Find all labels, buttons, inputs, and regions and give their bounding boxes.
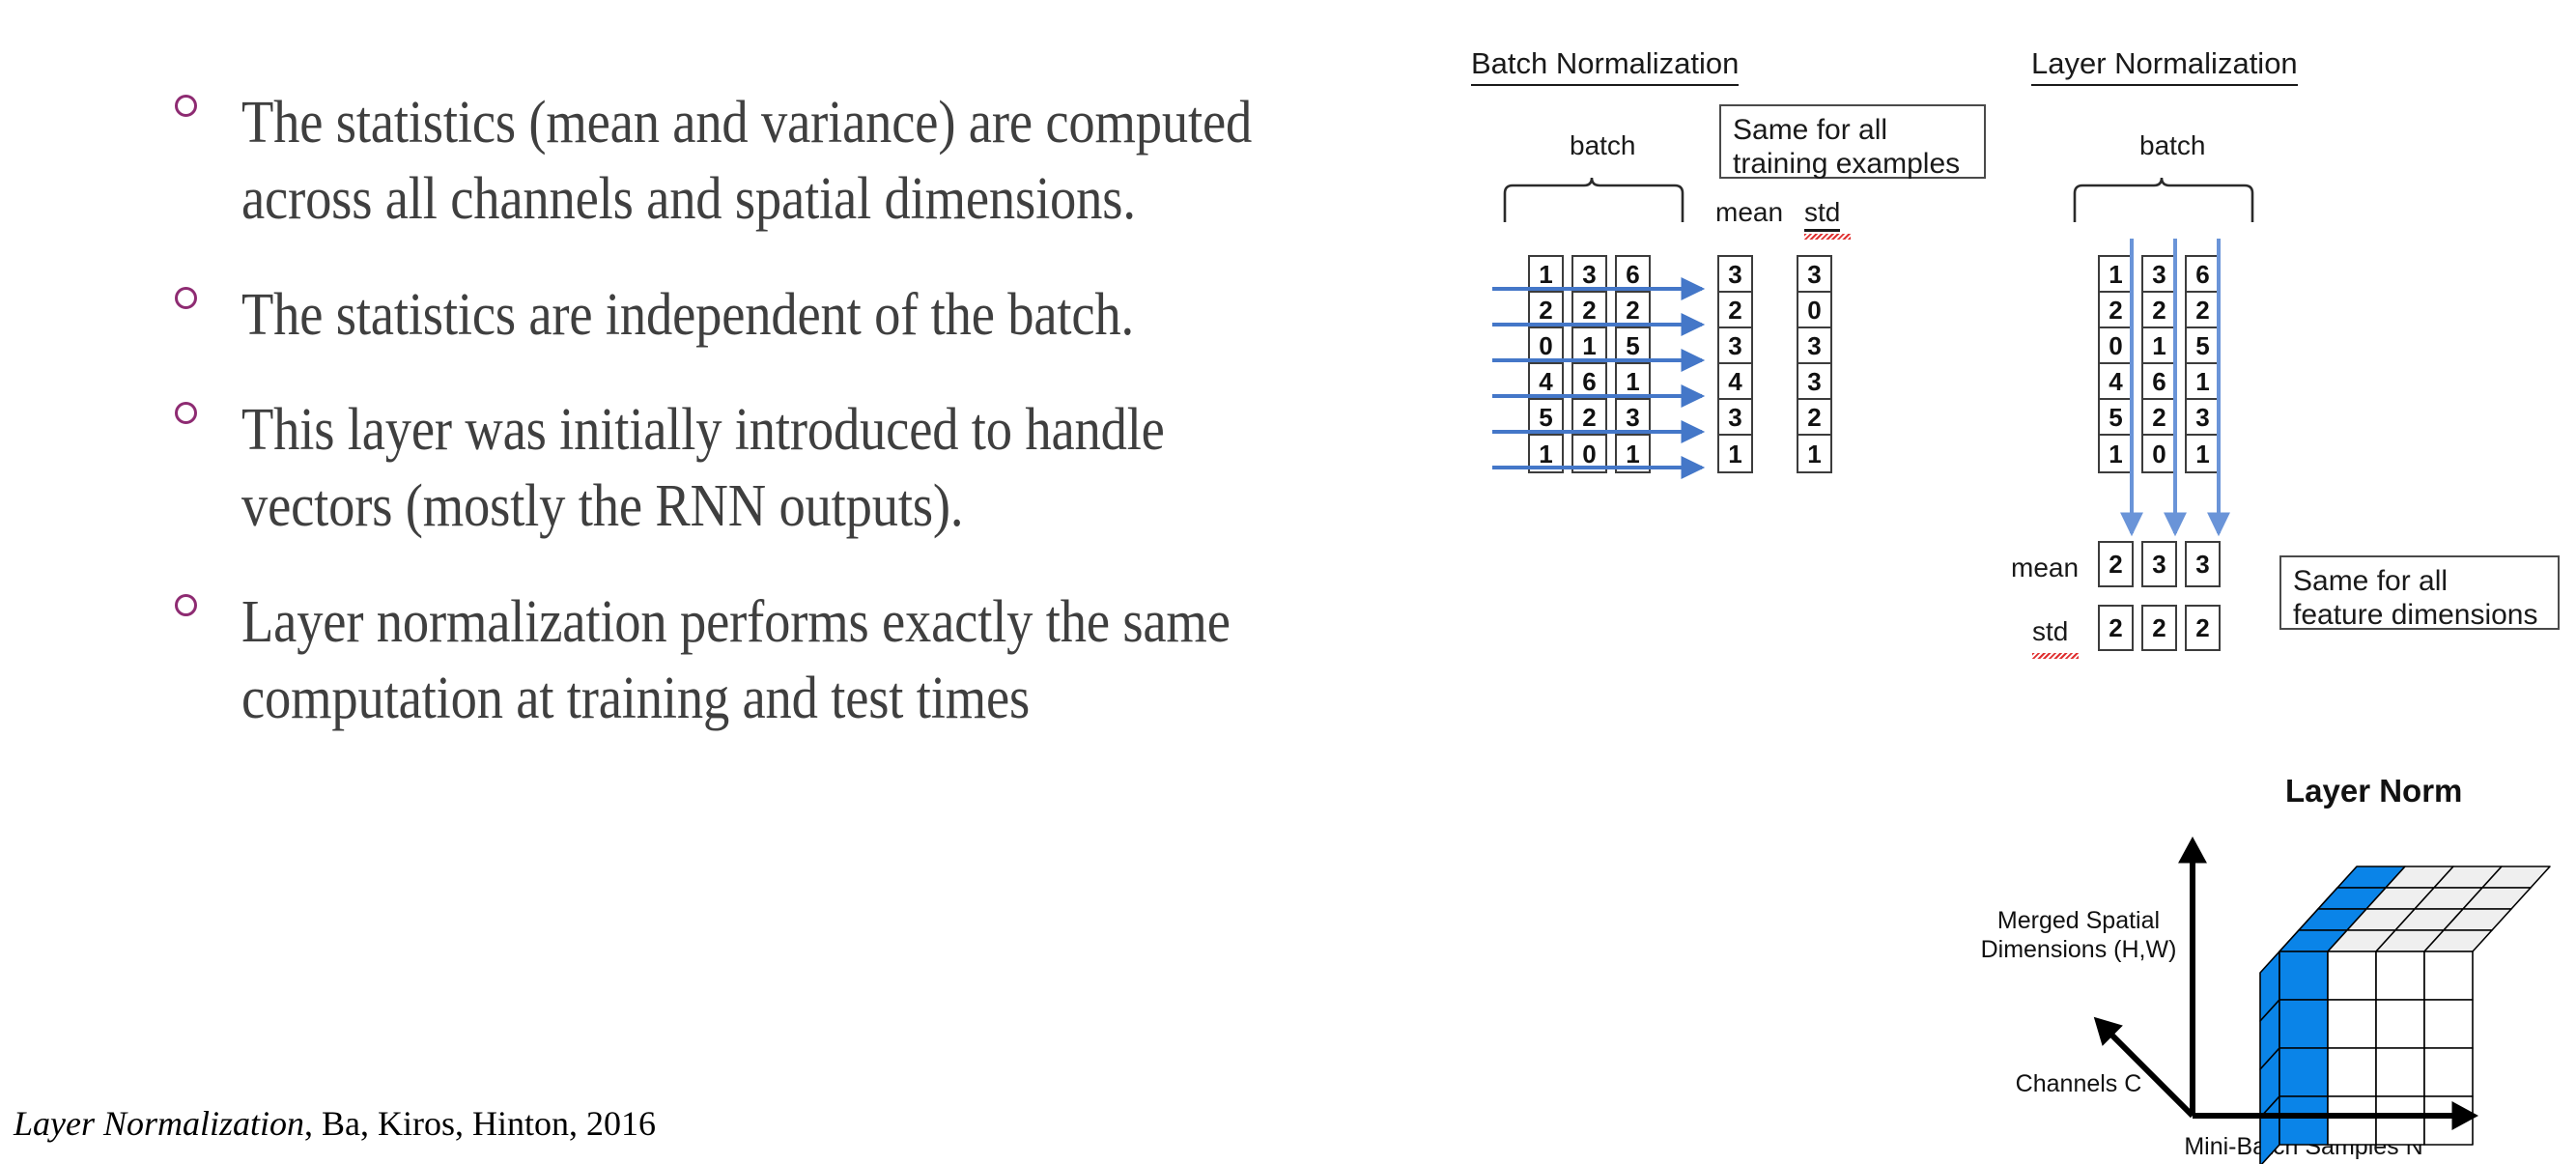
matrix-cell: 6 <box>1617 257 1649 293</box>
layer-norm-mean-label: mean <box>2011 553 2079 583</box>
matrix-cell: 2 <box>1617 293 1649 328</box>
matrix-column: 120451 <box>2098 255 2134 473</box>
cube-facet <box>2328 1096 2376 1145</box>
layer-norm-std-label: std <box>2032 616 2068 647</box>
matrix-column: 323431 <box>1717 255 1753 473</box>
cube-facet <box>2376 1096 2424 1145</box>
matrix-cell: 1 <box>1719 436 1751 471</box>
bullet-list: The statistics (mean and variance) are c… <box>169 85 1444 777</box>
matrix-cell: 3 <box>2187 400 2219 436</box>
cube-facet <box>2424 951 2473 1000</box>
matrix-column: 321620 <box>2141 255 2177 473</box>
cube-facet <box>2279 1000 2328 1048</box>
matrix-cell: 2 <box>1719 293 1751 328</box>
matrix-cell: 1 <box>1530 436 1562 471</box>
cube-facet <box>2279 951 2328 1000</box>
batch-norm-title: Batch Normalization <box>1471 46 1739 86</box>
cube-facet <box>2328 951 2376 1000</box>
bullet-text: Layer normalization performs exactly the… <box>241 584 1300 738</box>
cube-facet <box>2376 951 2424 1000</box>
matrix-cell: 1 <box>2187 436 2219 471</box>
bullet-marker-icon <box>175 287 197 309</box>
matrix-cell: 2 <box>2100 607 2132 649</box>
matrix-cell: 2 <box>1573 400 1605 436</box>
matrix-cell: 4 <box>1530 364 1562 400</box>
matrix-cell: 6 <box>1573 364 1605 400</box>
cube-facet <box>2279 1048 2328 1096</box>
matrix-cell: 3 <box>1719 328 1751 364</box>
cube-facet <box>2424 1048 2473 1096</box>
matrix-column: 3 <box>2141 541 2177 587</box>
citation-authors: , Ba, Kiros, Hinton, 2016 <box>304 1104 656 1143</box>
matrix-cell: 0 <box>2143 436 2175 471</box>
matrix-cell: 1 <box>1617 364 1649 400</box>
matrix-cell: 0 <box>2100 328 2132 364</box>
list-item: This layer was initially introduced to h… <box>169 392 1444 546</box>
layer-norm-callout: Same for all feature dimensions <box>2279 555 2560 630</box>
matrix-cell: 3 <box>2187 543 2219 585</box>
cube-facet <box>2376 1048 2424 1096</box>
layer-norm-cube-block: Layer Norm Merged Spatial Dimensions (H,… <box>1932 753 2576 1164</box>
batch-norm-std-label: std <box>1804 197 1840 232</box>
matrix-column: 321620 <box>1571 255 1607 473</box>
cube-facet <box>2424 1096 2473 1145</box>
bullet-text: The statistics are independent of the ba… <box>241 277 1300 354</box>
matrix-cell: 2 <box>2100 293 2132 328</box>
matrix-cell: 2 <box>2143 293 2175 328</box>
layer-norm-batch-label: batch <box>2139 130 2206 161</box>
list-item: The statistics (mean and variance) are c… <box>169 85 1444 239</box>
matrix-cell: 1 <box>1530 257 1562 293</box>
batch-norm-brace-icon <box>1502 174 1685 224</box>
matrix-column: 2 <box>2098 605 2134 651</box>
matrix-cell: 3 <box>1798 364 1830 400</box>
matrix-cell: 5 <box>2187 328 2219 364</box>
matrix-cell: 6 <box>2143 364 2175 400</box>
matrix-cell: 1 <box>2143 328 2175 364</box>
matrix-cell: 2 <box>1798 400 1830 436</box>
matrix-cell: 2 <box>2187 293 2219 328</box>
axis-arrow <box>2098 1021 2193 1116</box>
matrix-cell: 1 <box>1573 328 1605 364</box>
matrix-cell: 5 <box>2100 400 2132 436</box>
citation-footnote: Layer Normalization, Ba, Kiros, Hinton, … <box>14 1103 656 1144</box>
bullet-text: The statistics (mean and variance) are c… <box>241 85 1300 239</box>
matrix-cell: 5 <box>1617 328 1649 364</box>
matrix-cell: 1 <box>1798 436 1830 471</box>
matrix-column: 2 <box>2098 541 2134 587</box>
matrix-column: 2 <box>2141 605 2177 651</box>
layer-norm-brace-icon <box>2072 174 2255 224</box>
matrix-cell: 3 <box>1798 328 1830 364</box>
matrix-cell: 1 <box>1617 436 1649 471</box>
list-item: Layer normalization performs exactly the… <box>169 584 1444 738</box>
cube-facet <box>2424 1000 2473 1048</box>
matrix-cell: 2 <box>2143 607 2175 649</box>
matrix-cell: 0 <box>1573 436 1605 471</box>
bullet-text: This layer was initially introduced to h… <box>241 392 1300 546</box>
matrix-column: 625131 <box>1615 255 1651 473</box>
matrix-cell: 0 <box>1798 293 1830 328</box>
matrix-cell: 3 <box>1719 257 1751 293</box>
matrix-cell: 0 <box>1530 328 1562 364</box>
matrix-cell: 3 <box>1573 257 1605 293</box>
bullet-marker-icon <box>175 402 197 424</box>
matrix-cell: 3 <box>1617 400 1649 436</box>
citation-title: Layer Normalization <box>14 1104 304 1143</box>
matrix-cell: 2 <box>1573 293 1605 328</box>
matrix-cell: 3 <box>1798 257 1830 293</box>
spellcheck-squiggle-icon <box>1804 234 1851 240</box>
cube-facet <box>2376 1000 2424 1048</box>
matrix-column: 303321 <box>1797 255 1832 473</box>
list-item: The statistics are independent of the ba… <box>169 277 1444 354</box>
matrix-cell: 4 <box>2100 364 2132 400</box>
matrix-cell: 3 <box>2143 257 2175 293</box>
batch-norm-callout: Same for all training examples <box>1719 104 1986 179</box>
matrix-cell: 2 <box>1530 293 1562 328</box>
matrix-cell: 2 <box>2187 607 2219 649</box>
matrix-cell: 3 <box>2143 543 2175 585</box>
matrix-cell: 5 <box>1530 400 1562 436</box>
matrix-cell: 1 <box>2100 436 2132 471</box>
matrix-cell: 2 <box>2143 400 2175 436</box>
matrix-column: 625131 <box>2185 255 2221 473</box>
bullet-marker-icon <box>175 594 197 616</box>
matrix-column: 2 <box>2185 605 2221 651</box>
cube-facet <box>2328 1000 2376 1048</box>
cube-facet <box>2279 1096 2328 1145</box>
matrix-cell: 1 <box>2187 364 2219 400</box>
layer-norm-title: Layer Normalization <box>2031 46 2298 86</box>
matrix-cell: 3 <box>1719 400 1751 436</box>
matrix-cell: 4 <box>1719 364 1751 400</box>
matrix-cell: 6 <box>2187 257 2219 293</box>
matrix-column: 3 <box>2185 541 2221 587</box>
bullet-marker-icon <box>175 95 197 117</box>
cube-svg <box>1932 753 2576 1164</box>
cube-facet <box>2328 1048 2376 1096</box>
batch-norm-batch-label: batch <box>1570 130 1636 161</box>
matrix-column: 120451 <box>1528 255 1564 473</box>
batch-norm-mean-label: mean <box>1715 197 1783 228</box>
spellcheck-squiggle-icon <box>2032 653 2079 659</box>
matrix-cell: 2 <box>2100 543 2132 585</box>
matrix-cell: 1 <box>2100 257 2132 293</box>
